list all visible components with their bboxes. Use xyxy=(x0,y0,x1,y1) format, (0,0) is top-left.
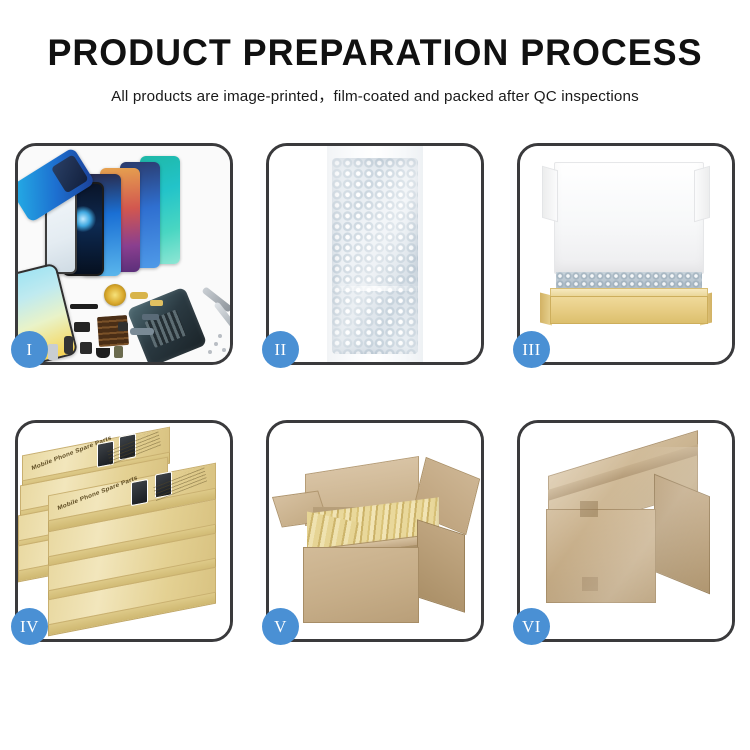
screw-part xyxy=(214,342,218,346)
step-image-6 xyxy=(520,423,732,639)
step-image-2 xyxy=(269,146,481,362)
step-panel-5: V xyxy=(266,420,484,642)
step-image-1 xyxy=(18,146,230,362)
screw-part xyxy=(208,350,212,354)
vibrator-part xyxy=(80,342,92,354)
step-panel-1: I xyxy=(15,143,233,365)
sim-pin-part xyxy=(48,344,58,360)
process-steps-grid: I II III xyxy=(15,143,735,688)
step-badge-1: I xyxy=(11,331,48,368)
page-subtitle: All products are image-printed，film-coat… xyxy=(0,84,750,106)
bracket-part xyxy=(142,314,159,320)
battery-connector-part xyxy=(114,346,123,358)
mailer-base-front xyxy=(550,296,708,324)
flex-cable-part xyxy=(130,292,148,299)
chip-array-part xyxy=(97,315,129,347)
carton-front-face xyxy=(303,547,419,623)
product-preparation-page: PRODUCT PREPARATION PROCESS All products… xyxy=(0,0,750,750)
step-badge-5: V xyxy=(262,608,299,645)
step-panel-2: II xyxy=(266,143,484,365)
step-badge-2: II xyxy=(262,331,299,368)
sealed-carton-right-face xyxy=(654,474,710,595)
sim-tray-part xyxy=(64,336,73,354)
step-image-5 xyxy=(269,423,481,639)
step-badge-4: IV xyxy=(11,608,48,645)
step-image-3 xyxy=(520,146,732,362)
step-badge-3: III xyxy=(513,331,550,368)
step-image-4: Mobile Phone Spare Parts xyxy=(18,423,230,639)
bubble-wrap-sheen xyxy=(332,158,418,354)
screw-part xyxy=(218,334,222,338)
speaker-box-part xyxy=(96,348,110,358)
antenna-strip-part xyxy=(130,328,154,335)
step-panel-3: III xyxy=(517,143,735,365)
carton-tab-lower xyxy=(582,577,598,591)
connector-part xyxy=(150,300,163,306)
step-panel-4: Mobile Phone Spare Parts xyxy=(15,420,233,642)
step-panel-6: VI xyxy=(517,420,735,642)
mailer-lid-right-flap xyxy=(694,166,710,223)
mailer-lid-left-flap xyxy=(542,166,558,223)
bubble-wrap-fold xyxy=(331,286,419,291)
retail-box-front-4 xyxy=(48,583,216,627)
page-header: PRODUCT PREPARATION PROCESS All products… xyxy=(0,0,750,106)
camera-module-part xyxy=(74,322,90,332)
wireless-coil-part xyxy=(104,284,126,306)
sealed-carton-front-face xyxy=(546,509,656,603)
page-title: PRODUCT PREPARATION PROCESS xyxy=(11,34,739,73)
step-badge-6: VI xyxy=(513,608,550,645)
screw-part xyxy=(222,348,226,352)
mailer-lid xyxy=(554,162,704,274)
carton-tab-upper xyxy=(580,501,598,517)
small-chip-part xyxy=(118,322,128,331)
retail-box-product-photo xyxy=(131,479,148,506)
earpiece-speaker-part xyxy=(70,304,98,309)
carton-right-face xyxy=(417,519,465,613)
